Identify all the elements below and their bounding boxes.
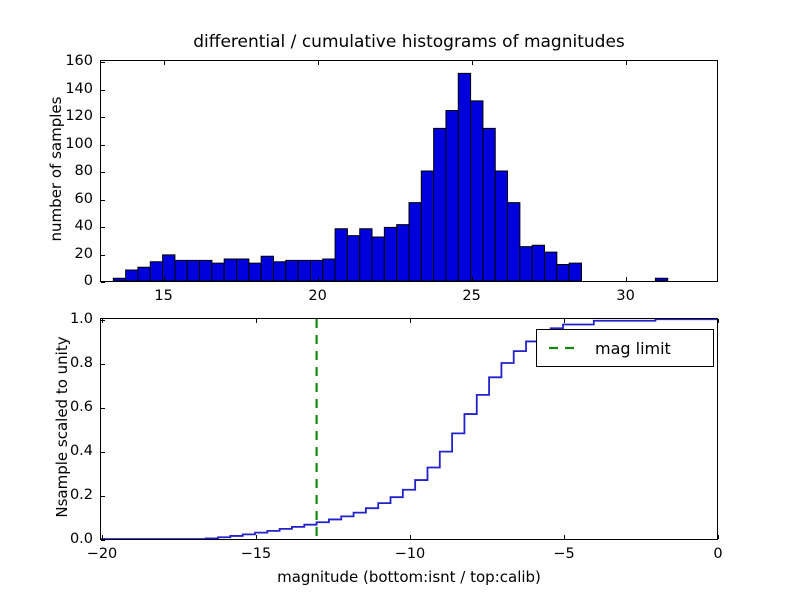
top-y-tick	[101, 62, 105, 63]
bottom-y-tick	[101, 408, 105, 409]
bottom-x-tick-top	[564, 319, 565, 323]
histogram-bar	[446, 111, 458, 282]
histogram-bar	[471, 101, 483, 281]
top-y-tick-label: 100	[9, 136, 93, 152]
bottom-x-tick-label: −15	[216, 546, 296, 562]
histogram-bar	[495, 171, 507, 281]
histogram-bar	[200, 260, 212, 281]
bottom-y-tick	[101, 452, 105, 453]
histogram-bar	[138, 267, 150, 281]
top-y-tick	[101, 117, 105, 118]
bottom-x-tick-top	[410, 319, 411, 323]
top-x-tick-label: 30	[586, 288, 666, 304]
top-y-tick	[101, 200, 105, 201]
top-y-tick-label: 80	[9, 163, 93, 179]
top-x-tick-label: 20	[278, 288, 358, 304]
histogram-bar	[261, 256, 273, 281]
bottom-y-tick	[101, 540, 105, 541]
top-x-tick-label: 15	[124, 288, 204, 304]
histogram-bar	[224, 259, 236, 281]
histogram-bar	[397, 225, 409, 281]
bottom-x-tick	[410, 535, 411, 539]
bottom-y-tick	[101, 364, 105, 365]
top-y-tick	[101, 227, 105, 228]
top-x-tick	[626, 277, 627, 281]
histogram-bar	[150, 262, 162, 281]
histogram-bar	[113, 278, 125, 281]
differential-histogram-plot	[101, 61, 717, 281]
histogram-bar	[532, 245, 544, 281]
bottom-y-tick-label: 0.8	[9, 355, 93, 371]
top-x-tick-top	[164, 61, 165, 65]
bottom-x-tick	[564, 535, 565, 539]
bottom-x-tick-label: −20	[62, 546, 142, 562]
top-x-tick-top	[472, 61, 473, 65]
bottom-panel-xlabel: magnitude (bottom:isnt / top:calib)	[100, 568, 718, 586]
histogram-bar	[347, 236, 359, 281]
page-title: differential / cumulative histograms of …	[100, 32, 718, 52]
top-x-tick-top	[626, 61, 627, 65]
top-y-tick	[101, 172, 105, 173]
bottom-x-tick	[102, 535, 103, 539]
top-y-tick	[101, 255, 105, 256]
histogram-bar	[655, 278, 667, 281]
bottom-x-tick-label: 0	[678, 546, 758, 562]
top-y-tick-label: 20	[9, 246, 93, 262]
histogram-bar	[409, 203, 421, 281]
histogram-bar	[335, 229, 347, 281]
histogram-bar	[249, 263, 261, 281]
top-x-tick	[164, 277, 165, 281]
histogram-bar	[273, 262, 285, 281]
top-y-tick-label: 140	[9, 81, 93, 97]
top-y-tick	[101, 145, 105, 146]
histogram-bar	[360, 229, 372, 281]
top-x-tick	[318, 277, 319, 281]
histogram-bar	[126, 270, 138, 281]
top-y-tick	[101, 282, 105, 283]
top-x-tick-top	[318, 61, 319, 65]
histogram-bar	[520, 247, 532, 281]
top-y-tick-label: 40	[9, 218, 93, 234]
histogram-bar	[175, 260, 187, 281]
histogram-bar	[545, 252, 557, 281]
top-y-tick-label: 0	[9, 273, 93, 289]
histogram-bar	[458, 73, 470, 281]
bottom-y-tick-label: 1.0	[9, 311, 93, 327]
bottom-y-tick	[101, 496, 105, 497]
histogram-bar	[434, 128, 446, 281]
histogram-bar	[508, 203, 520, 281]
histogram-bar	[384, 227, 396, 281]
bottom-y-tick-label: 0.6	[9, 399, 93, 415]
top-x-tick	[472, 277, 473, 281]
histogram-bar	[187, 260, 199, 281]
bottom-x-tick-top	[718, 319, 719, 323]
histogram-bar	[298, 260, 310, 281]
histogram-bar	[237, 259, 249, 281]
bottom-y-tick-label: 0.4	[9, 443, 93, 459]
legend-label-mag-limit: mag limit	[595, 339, 671, 358]
legend[interactable]: mag limit	[536, 329, 714, 367]
histogram-bar	[310, 260, 322, 281]
histogram-bar	[372, 237, 384, 281]
histogram-bar	[212, 263, 224, 281]
bottom-y-tick-label: 0.2	[9, 487, 93, 503]
top-panel-axes	[100, 60, 718, 282]
top-y-tick-label: 160	[9, 53, 93, 69]
bottom-x-tick-label: −5	[524, 546, 604, 562]
histogram-bar	[323, 259, 335, 281]
top-y-tick-label: 60	[9, 191, 93, 207]
histogram-bar	[421, 171, 433, 281]
top-x-tick-label: 25	[432, 288, 512, 304]
histogram-bar	[286, 260, 298, 281]
top-y-tick	[101, 90, 105, 91]
bottom-x-tick-label: −10	[370, 546, 450, 562]
figure-canvas: differential / cumulative histograms of …	[0, 0, 800, 600]
top-y-tick-label: 120	[9, 108, 93, 124]
histogram-bar	[483, 128, 495, 281]
bottom-panel-ylabel: Nsample scaled to unity	[53, 307, 71, 547]
bottom-x-tick-top	[256, 319, 257, 323]
histogram-bar	[569, 263, 581, 281]
bottom-x-tick	[718, 535, 719, 539]
bottom-y-tick-label: 0.0	[9, 531, 93, 547]
bottom-x-tick	[256, 535, 257, 539]
legend-dashed-line-icon	[547, 342, 581, 354]
bottom-x-tick-top	[102, 319, 103, 323]
histogram-bar	[557, 265, 569, 282]
